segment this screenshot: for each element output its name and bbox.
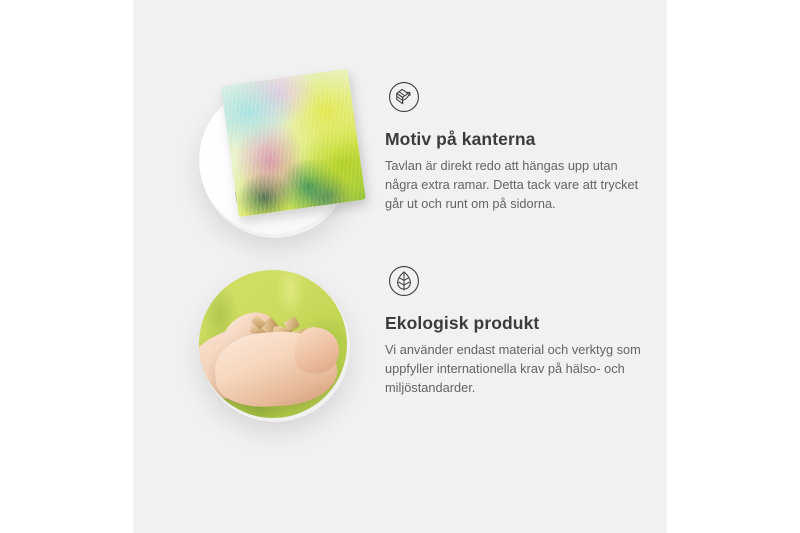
- feature-body: Tavlan är direkt redo att hängas upp uta…: [385, 157, 653, 214]
- canvas-print-group: [199, 86, 347, 234]
- feature-row: Motiv på kanterna Tavlan är direkt redo …: [133, 78, 667, 253]
- feature-title: Ekologisk produkt: [385, 313, 663, 334]
- product-info-banner: Motiv på kanterna Tavlan är direkt redo …: [0, 0, 800, 533]
- leaf-icon: [385, 262, 423, 300]
- canvas-wrapped-edge-icon: [385, 78, 423, 116]
- feature-title: Motiv på kanterna: [385, 129, 663, 150]
- hands-holding-wood-chips-photo: [195, 262, 355, 422]
- canvas-print-face: [221, 69, 366, 218]
- canvas-print-corner-photo: [195, 78, 355, 238]
- canvas-artwork: [221, 69, 366, 218]
- feature-text-column: Motiv på kanterna Tavlan är direkt redo …: [385, 78, 663, 214]
- feature-text-column: Ekologisk produkt Vi använder endast mat…: [385, 262, 663, 398]
- content-stage: Motiv på kanterna Tavlan är direkt redo …: [133, 0, 667, 533]
- green-photo-disc: [199, 270, 347, 418]
- feature-body: Vi använder endast material och verktyg …: [385, 341, 653, 398]
- feature-row: Ekologisk produkt Vi använder endast mat…: [133, 262, 667, 437]
